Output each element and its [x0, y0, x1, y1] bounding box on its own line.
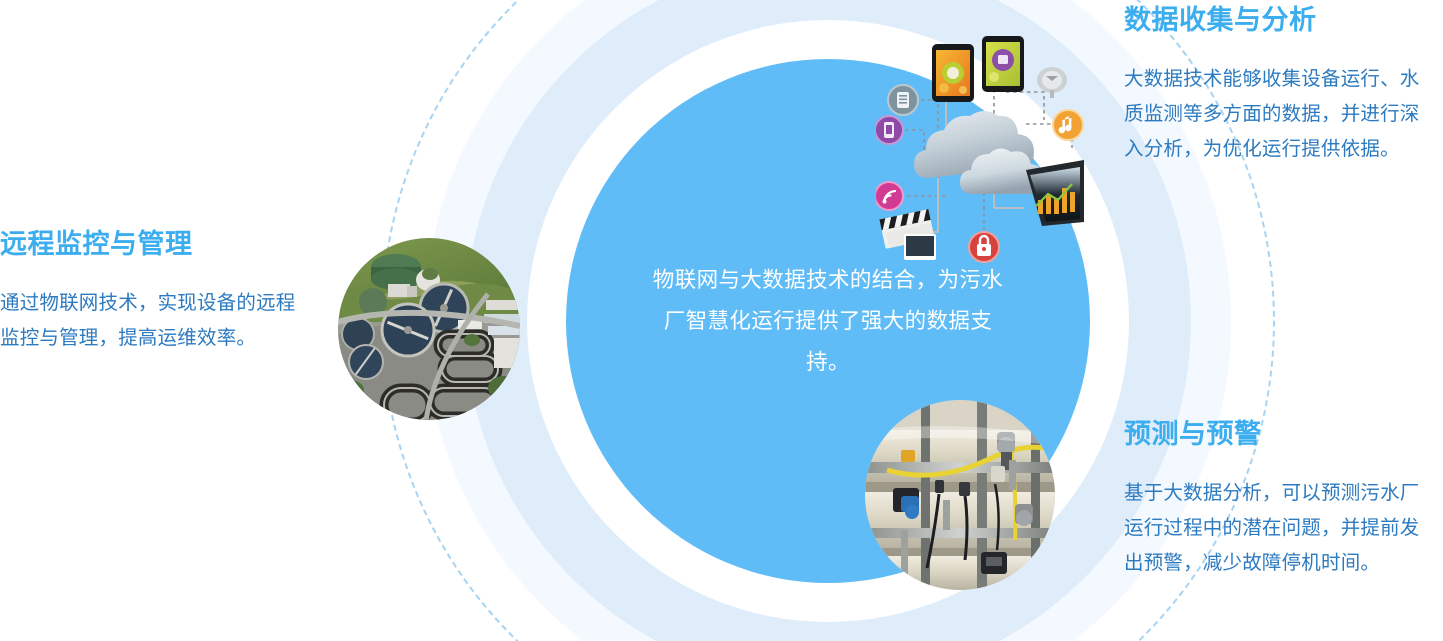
tablet-orange-icon	[932, 44, 974, 102]
filtration-piping-photo	[865, 400, 1055, 590]
block-remote-monitoring: 远程监控与管理 通过物联网技术，实现设备的远程监控与管理，提高运维效率。	[0, 228, 312, 356]
body-remote-monitoring: 通过物联网技术，实现设备的远程监控与管理，提高运维效率。	[0, 286, 312, 356]
cloud-illustration-image	[876, 28, 1092, 266]
cloud-computing-illustration	[876, 28, 1092, 266]
clapperboard-icon	[879, 209, 936, 260]
chart-monitor-icon	[1026, 160, 1084, 226]
wastewater-plant-aerial-image	[338, 238, 520, 420]
block-data-collection: 数据收集与分析 大数据技术能够收集设备运行、水质监测等多方面的数据，并进行深入分…	[1124, 4, 1432, 167]
rss-icon	[876, 182, 903, 210]
body-prediction-warning: 基于大数据分析，可以预测污水厂运行过程中的潜在问题，并提前发出预警，减少故障停机…	[1124, 476, 1432, 581]
heading-prediction-warning: 预测与预警	[1124, 418, 1432, 450]
pale-ring	[425, 0, 1231, 641]
center-statement: 物联网与大数据技术的结合，为污水厂智慧化运行提供了强大的数据支持。	[644, 260, 1012, 383]
server-icon	[888, 85, 918, 115]
body-data-collection: 大数据技术能够收集设备运行、水质监测等多方面的数据，并进行深入分析，为优化运行提…	[1124, 62, 1432, 167]
mobile-icon	[876, 116, 903, 144]
cloud-icon	[914, 111, 1045, 194]
lock-icon	[969, 232, 999, 262]
tablet-green-icon	[982, 36, 1024, 92]
music-note-icon	[1053, 110, 1083, 140]
heading-remote-monitoring: 远程监控与管理	[0, 228, 312, 260]
filtration-piping-image	[865, 400, 1055, 590]
satellite-dish-icon	[1037, 67, 1067, 98]
infographic-slide: 物联网与大数据技术的结合，为污水厂智慧化运行提供了强大的数据支持。	[0, 0, 1443, 641]
wastewater-plant-photo	[338, 238, 520, 420]
block-prediction-warning: 预测与预警 基于大数据分析，可以预测污水厂运行过程中的潜在问题，并提前发出预警，…	[1124, 418, 1432, 581]
heading-data-collection: 数据收集与分析	[1124, 4, 1432, 36]
